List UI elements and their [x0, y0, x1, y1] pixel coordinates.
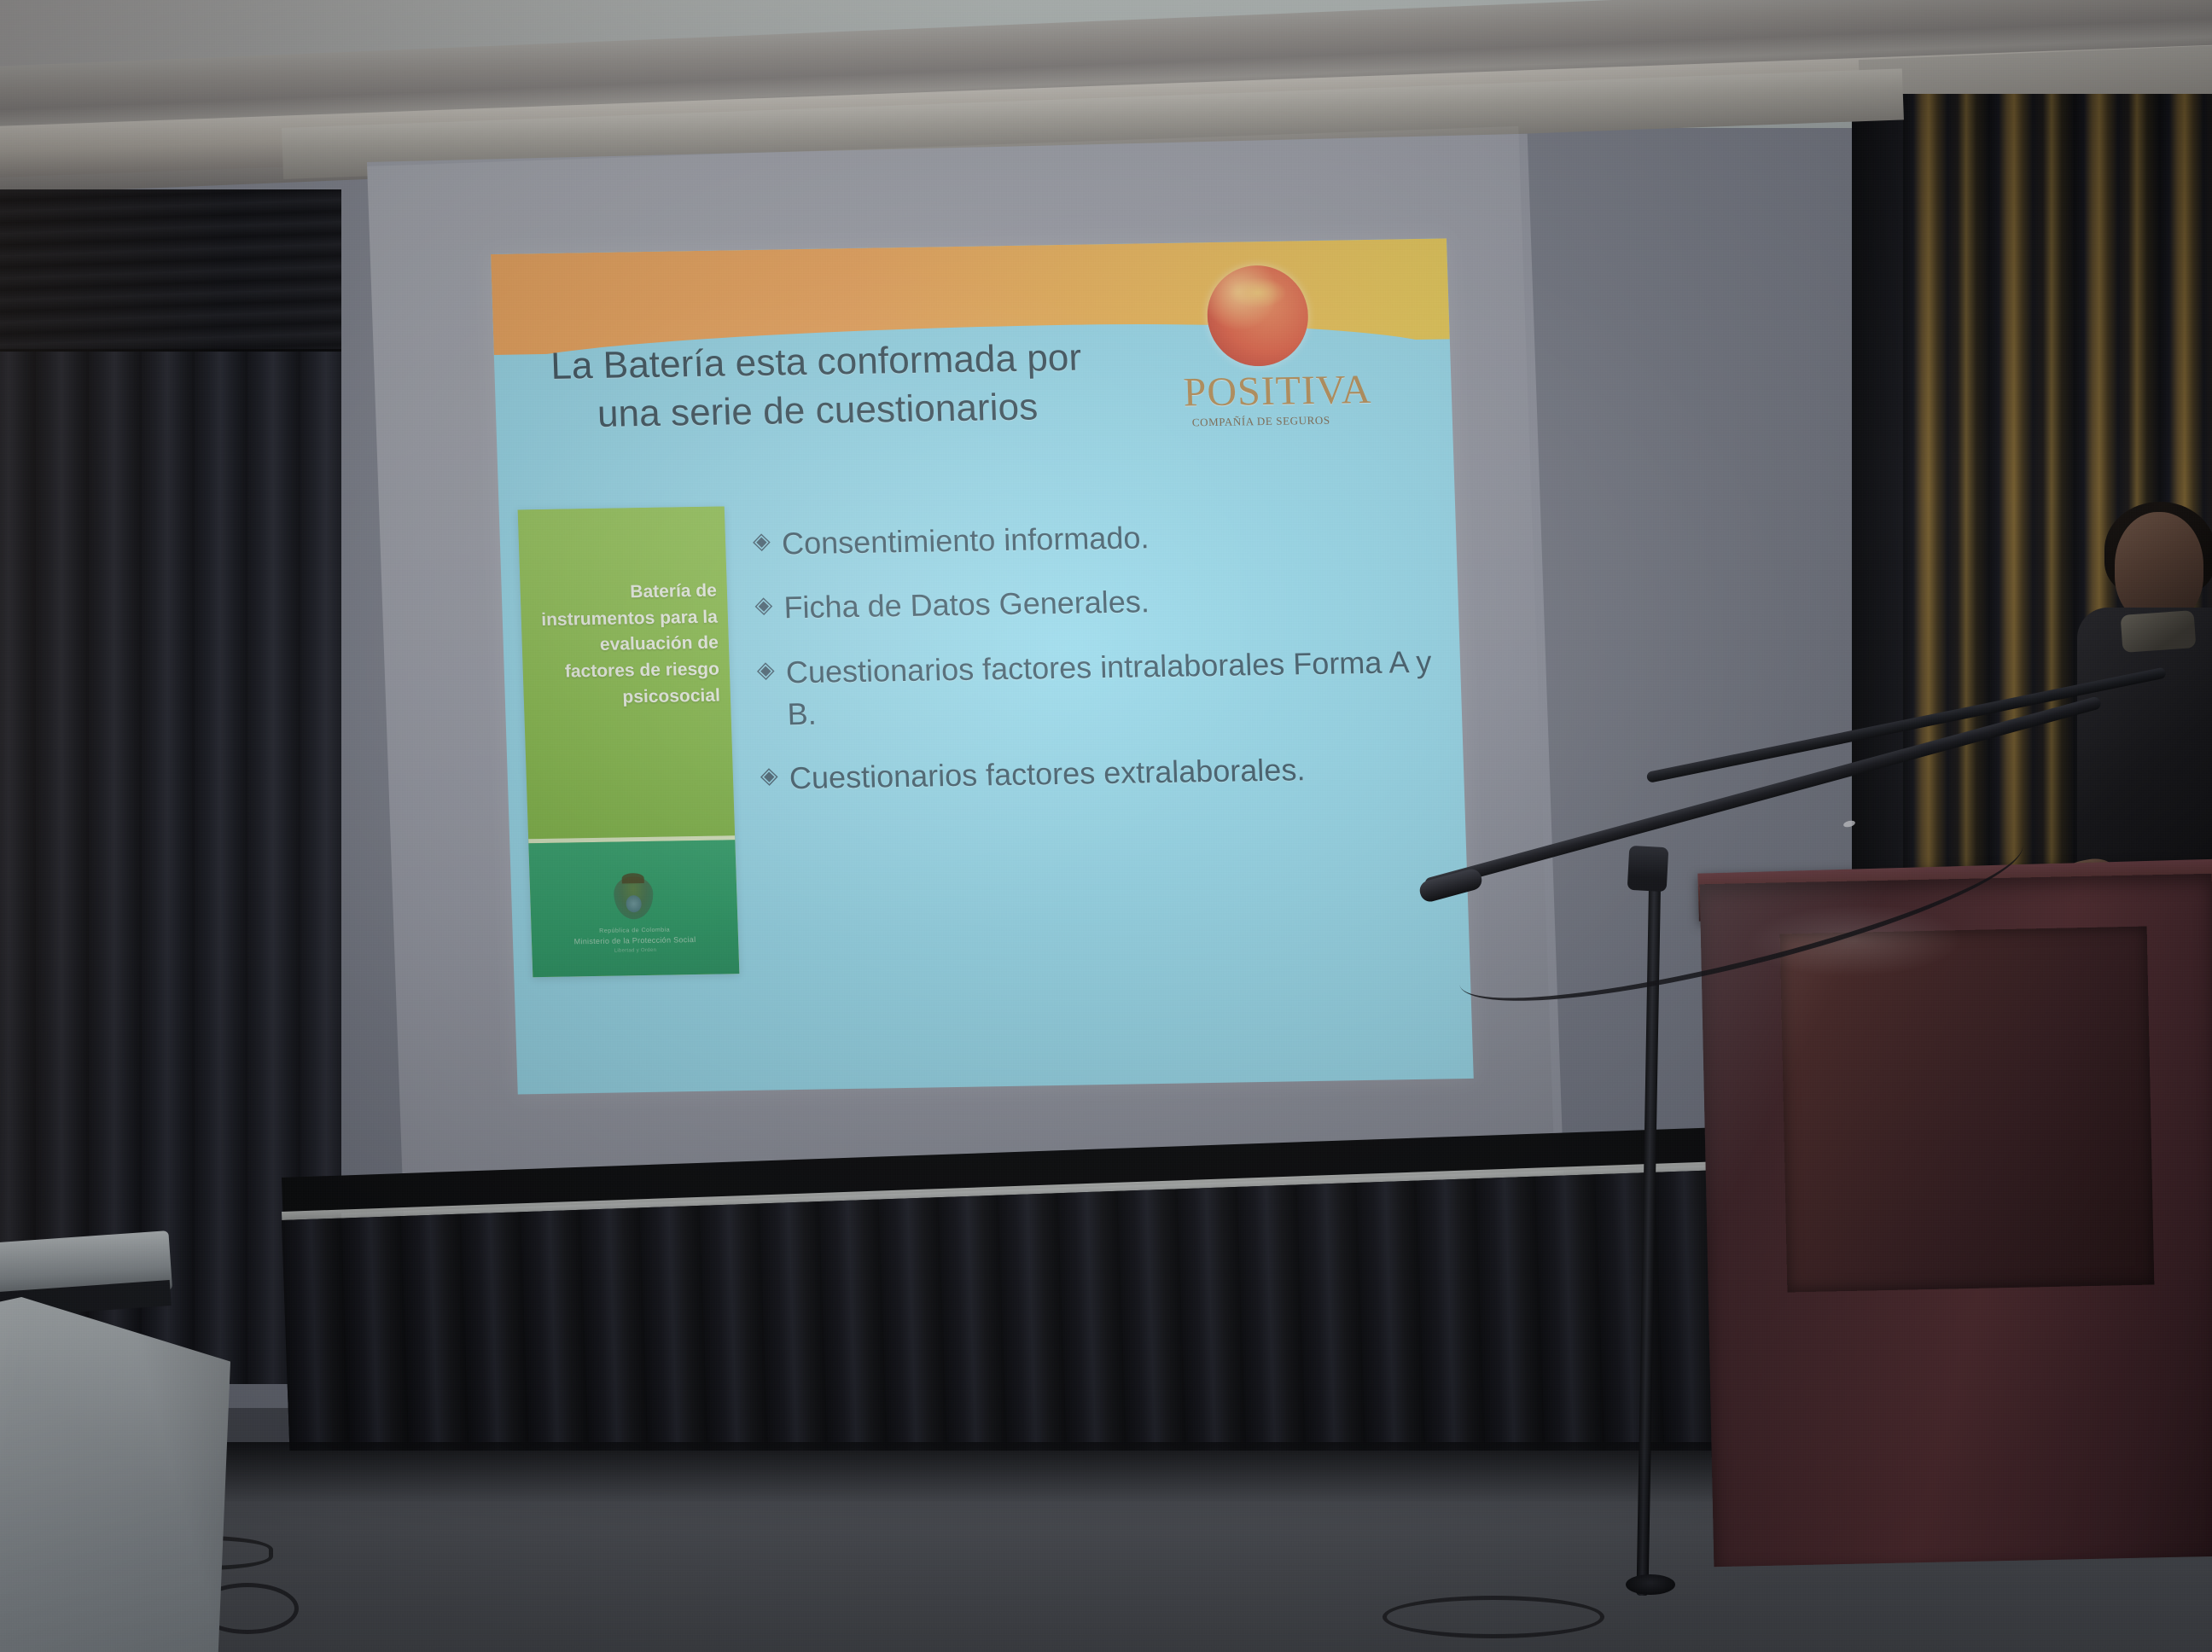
positiva-tagline: Compañía de Seguros [1185, 414, 1339, 430]
podium-highlight [1700, 874, 2212, 1567]
list-item: ◈ Consentimiento informado. [752, 512, 1436, 566]
list-item: ◈ Cuestionarios factores extralaborales. [760, 747, 1444, 800]
diamond-bullet-icon: ◈ [760, 757, 789, 794]
list-item: ◈ Ficha de Datos Generales. [754, 576, 1439, 630]
diamond-bullet-icon: ◈ [756, 651, 786, 689]
microphone-stand-base [1626, 1574, 1675, 1595]
diamond-bullet-icon: ◈ [752, 522, 782, 560]
projected-slide: La Batería esta conformada por una serie… [491, 238, 1474, 1094]
slide-bullet-list: ◈ Consentimiento informado. ◈ Ficha de D… [752, 512, 1444, 823]
coiled-cable [1382, 1596, 1604, 1638]
presenter-head [2115, 512, 2203, 623]
presenter-collar [2121, 610, 2197, 653]
list-item-label: Ficha de Datos Generales. [783, 576, 1439, 629]
diamond-bullet-icon: ◈ [754, 587, 784, 625]
orange-globe-icon [1206, 265, 1310, 367]
photograph-scene: La Batería esta conformada por una serie… [0, 0, 2212, 1652]
slide-title: La Batería esta conformada por una serie… [521, 333, 1113, 440]
coat-of-arms-crest [622, 873, 644, 883]
list-item-label: Cuestionarios factores intralaborales Fo… [785, 640, 1441, 735]
book-cover-image: Batería de instrumentos para la evaluaci… [518, 506, 740, 977]
list-item: ◈ Cuestionarios factores intralaborales … [756, 640, 1441, 736]
list-item-label: Cuestionarios factores extralaborales. [789, 747, 1444, 800]
positiva-logo: POSITIVA Compañía de Seguros [1179, 265, 1339, 442]
positiva-wordmark: POSITIVA [1183, 370, 1338, 414]
list-item-label: Consentimiento informado. [781, 512, 1436, 565]
book-cover-title: Batería de instrumentos para la evaluaci… [533, 579, 720, 713]
